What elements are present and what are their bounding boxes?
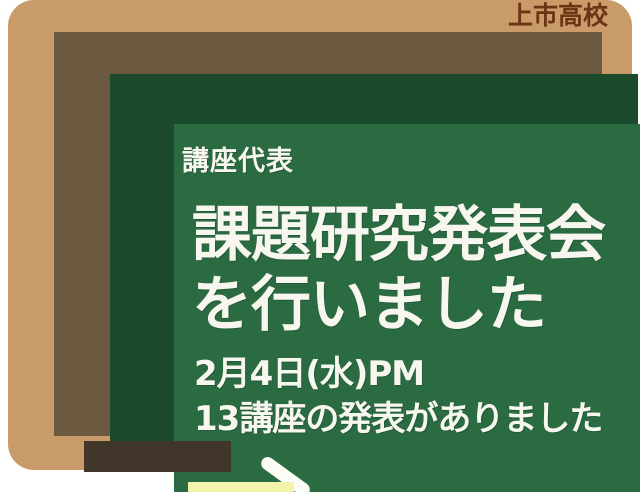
headline-line-2: を行いました xyxy=(192,270,605,340)
blackboard-eraser-felt-icon xyxy=(188,482,294,492)
blackboard-surface: 講座代表 課題研究発表会 を行いました 2月4日(水)PM 13講座の発表があり… xyxy=(174,124,640,492)
blackboard-inner-border: 講座代表 課題研究発表会 を行いました 2月4日(水)PM 13講座の発表があり… xyxy=(54,32,602,436)
detail-text-block: 2月4日(水)PM 13講座の発表がありました xyxy=(194,352,602,442)
school-name-label: 上市高校 xyxy=(508,2,608,30)
headline-line-1: 課題研究発表会 xyxy=(192,200,605,270)
blackboard-rim: 講座代表 課題研究発表会 を行いました 2月4日(水)PM 13講座の発表があり… xyxy=(110,74,638,458)
detail-line-count: 13講座の発表がありました xyxy=(194,397,602,442)
blackboard-wooden-frame: 上市高校 講座代表 課題研究発表会 を行いました 2月4日(水)PM 13講座の… xyxy=(8,0,632,470)
chalk-tray xyxy=(84,441,231,472)
headline: 課題研究発表会 を行いました xyxy=(192,200,605,340)
blackboard-scene: 上市高校 講座代表 課題研究発表会 を行いました 2月4日(水)PM 13講座の… xyxy=(0,0,640,480)
eyebrow-text: 講座代表 xyxy=(182,147,294,177)
detail-line-date: 2月4日(水)PM xyxy=(194,352,602,397)
